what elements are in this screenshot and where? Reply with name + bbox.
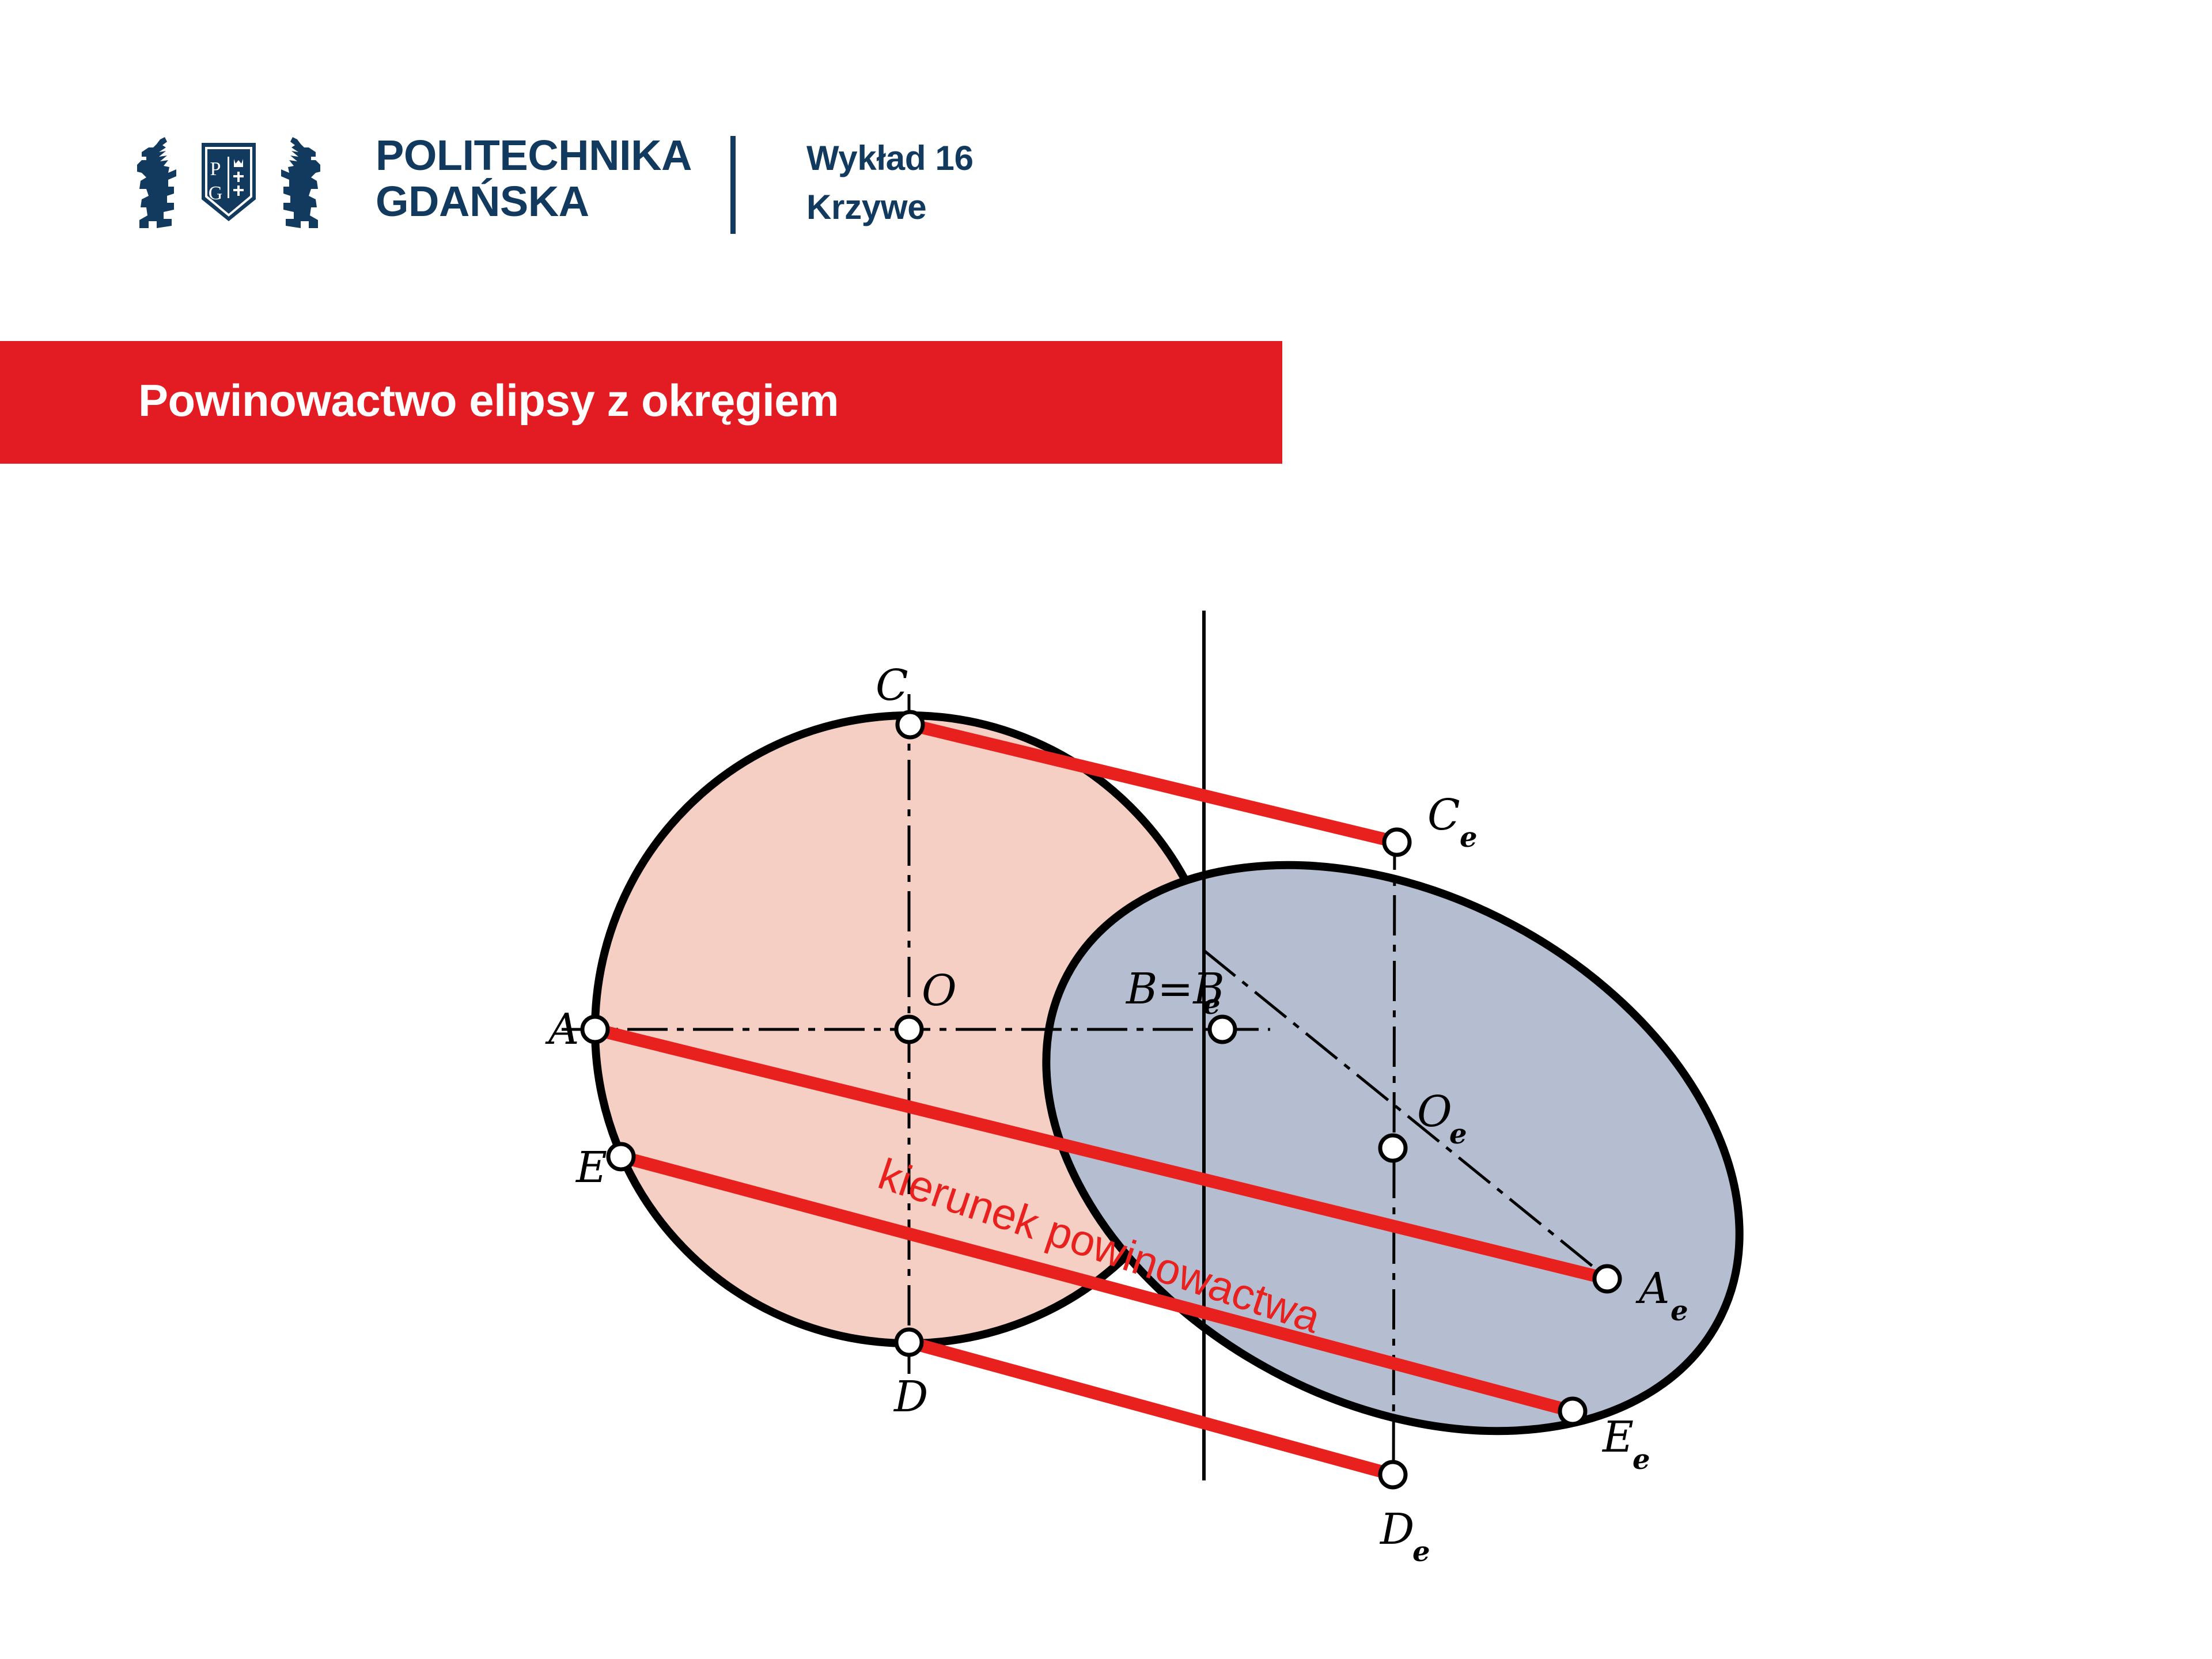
label-Ce: C — [1427, 790, 1460, 840]
point-Ae — [1594, 1266, 1620, 1291]
label-Ae-sub: e — [1671, 1295, 1688, 1327]
label-A: A — [545, 1005, 579, 1054]
point-C — [897, 712, 923, 737]
point-Ce — [1384, 829, 1410, 855]
point-E — [608, 1144, 634, 1169]
label-B-sub: e — [1203, 988, 1221, 1021]
diagram-svg: A B=B e C D E O A e C e D e E e O e kier… — [0, 0, 2212, 1659]
label-Oe: O — [1417, 1087, 1452, 1137]
geometry-diagram: A B=B e C D E O A e C e D e E e O e kier… — [0, 0, 2212, 1659]
label-Ce-sub: e — [1460, 821, 1478, 854]
point-A — [582, 1017, 608, 1042]
label-D: D — [893, 1372, 928, 1422]
label-De: D — [1379, 1505, 1414, 1554]
label-De-sub: e — [1412, 1536, 1430, 1568]
label-Ae: A — [1635, 1264, 1669, 1313]
label-E: E — [575, 1143, 607, 1192]
label-O: O — [922, 966, 957, 1016]
point-De — [1380, 1462, 1406, 1487]
point-Oe — [1380, 1135, 1406, 1161]
point-O — [896, 1017, 922, 1042]
point-D — [896, 1330, 922, 1355]
label-Oe-sub: e — [1449, 1118, 1467, 1150]
label-Ee: E — [1601, 1412, 1634, 1462]
point-Ee — [1560, 1399, 1585, 1424]
label-C: C — [876, 661, 908, 710]
label-Ee-sub: e — [1633, 1444, 1650, 1476]
